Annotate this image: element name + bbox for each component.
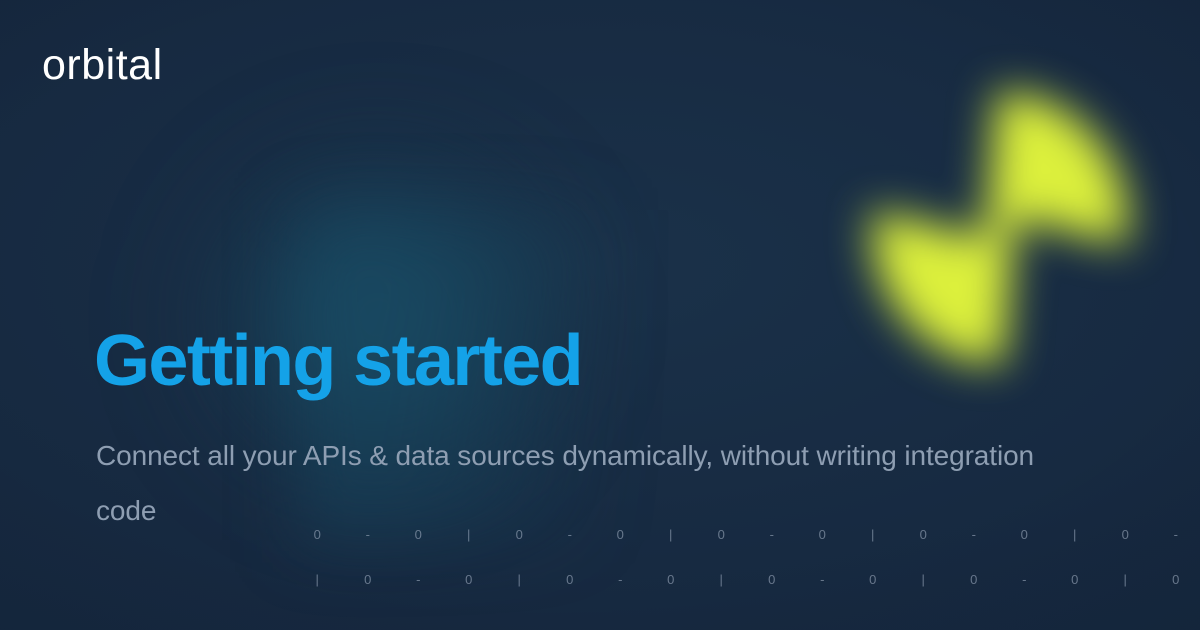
green-zigzag-blob-icon xyxy=(845,78,1155,378)
open-graph-card: orbital Getting started Connect all your… xyxy=(0,0,1200,630)
orbital-logo[interactable]: orbital xyxy=(42,44,163,87)
page-title: Getting started xyxy=(94,325,582,397)
page-subtitle: Connect all your APIs & data sources dyn… xyxy=(96,428,1056,538)
